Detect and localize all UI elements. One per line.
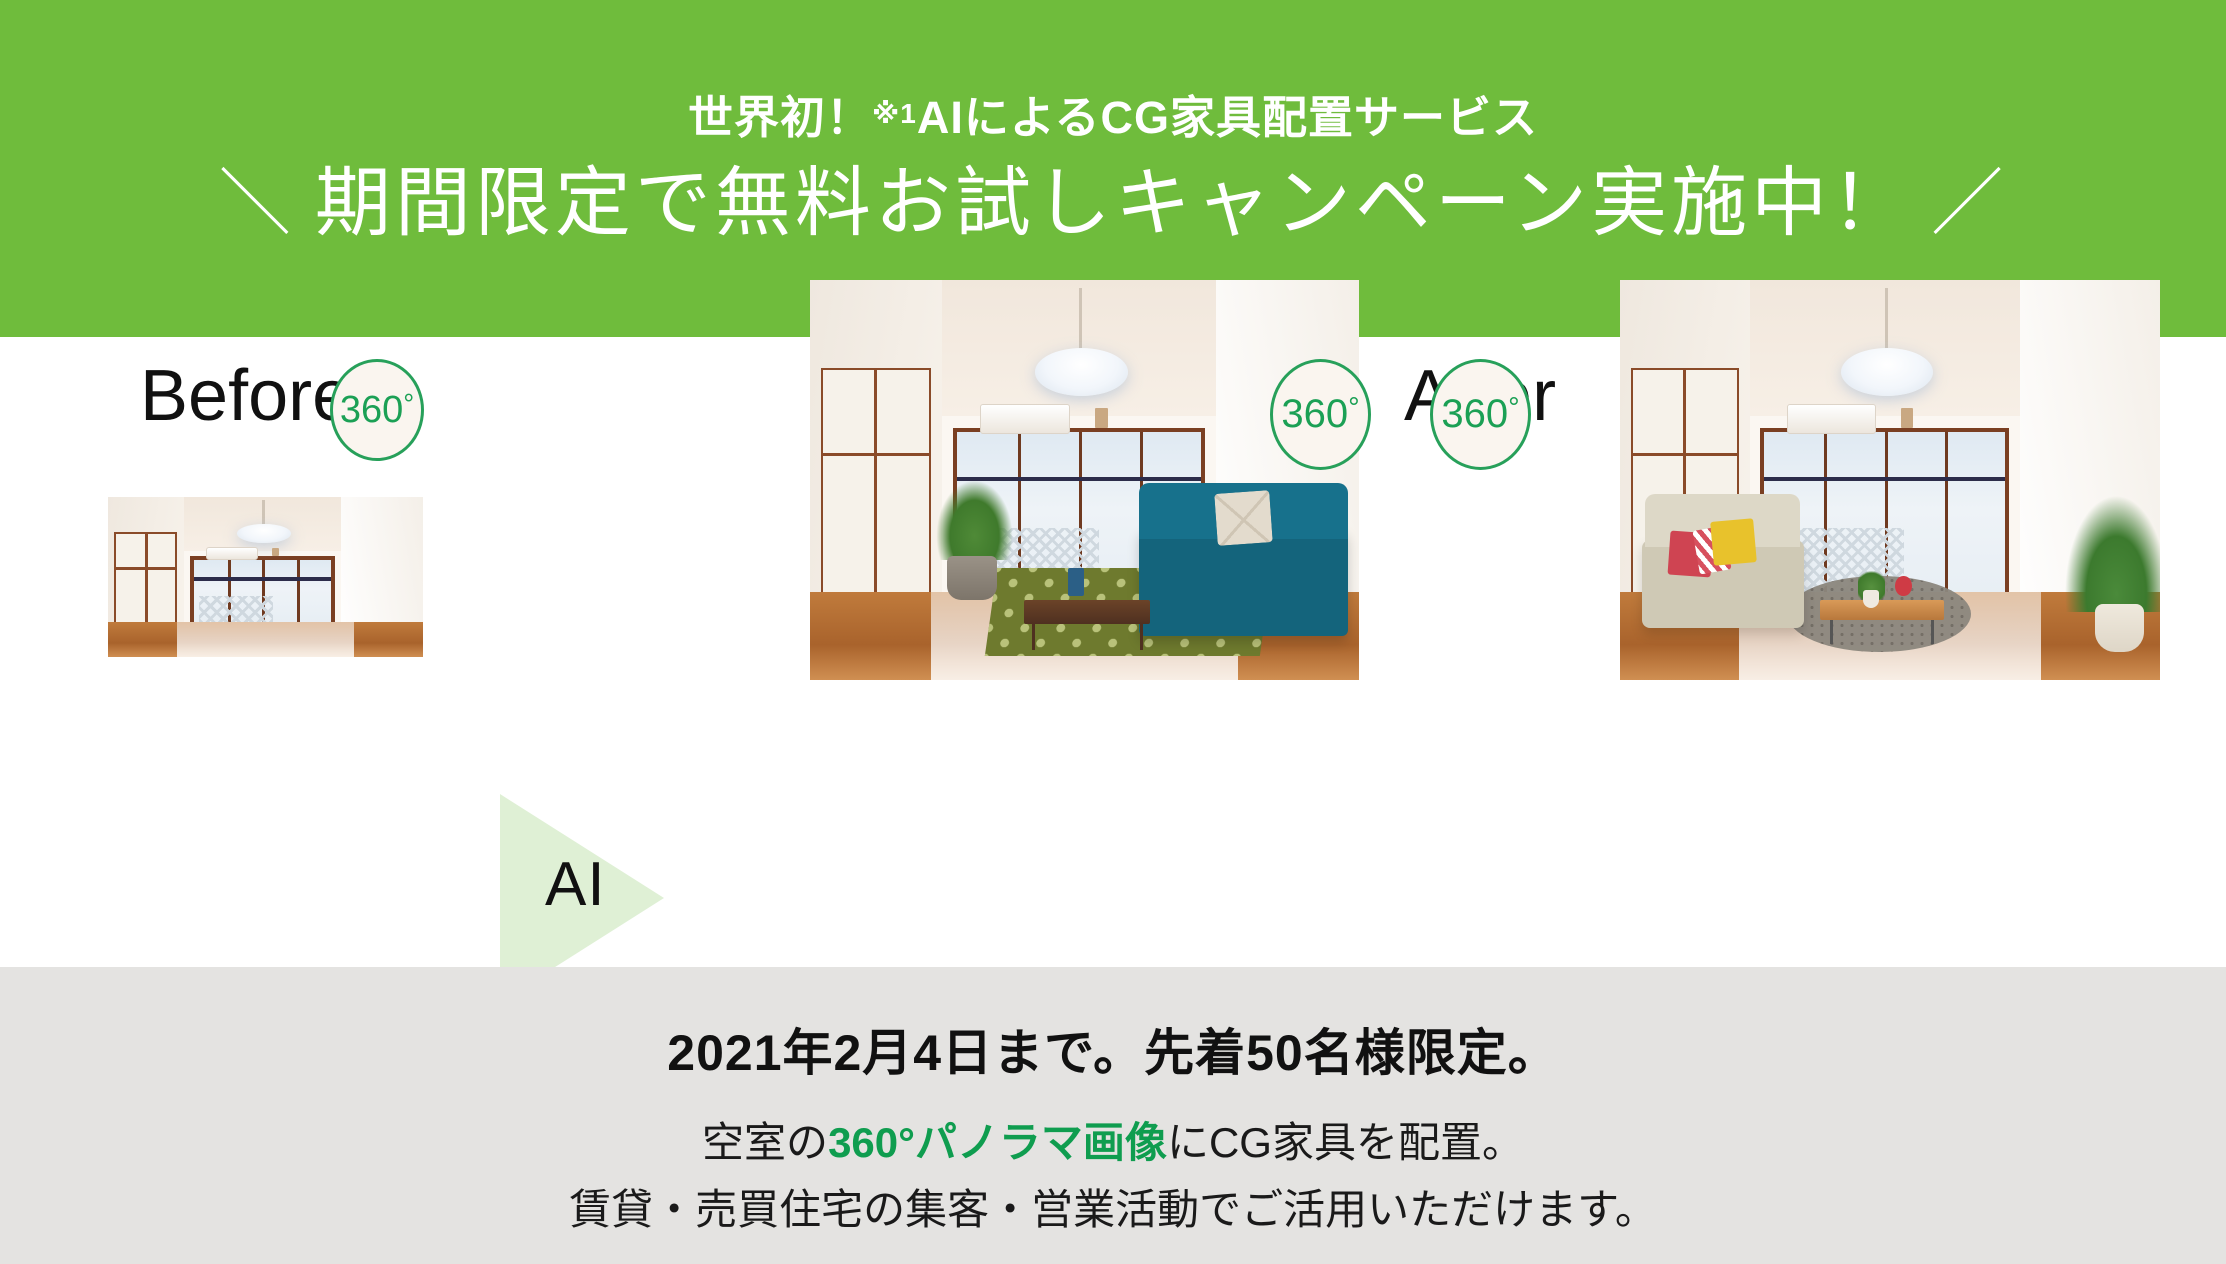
- potted-plant-pot: [947, 556, 996, 600]
- service-description-line-2: 賃貸・売買住宅の集客・営業活動でご活用いただけます。: [569, 1176, 1657, 1237]
- header-title: ＼ 期間限定で無料お試しキャンペーン実施中！ ／: [219, 166, 2007, 242]
- coffee-table-dark: [1024, 600, 1150, 624]
- badge-degree-symbol: °: [403, 388, 414, 420]
- shoji-sliding-door: [821, 368, 931, 616]
- pendant-lamp-cord: [1079, 288, 1082, 352]
- header-subtitle: 世界初！※1 AIによるCG家具配置サービス: [688, 95, 1538, 140]
- badge-360-after-2[interactable]: 360°: [1430, 359, 1531, 470]
- window-grill: [199, 596, 273, 622]
- palm-plant-leaves: [2063, 492, 2160, 612]
- window-mullion-vertical: [1945, 432, 1948, 604]
- before-after-comparison-section: Before After 360° AI: [0, 337, 2226, 967]
- header-title-text: 期間限定で無料お試しキャンペーン実施中！: [315, 166, 1911, 242]
- badge-360-value: 360: [1441, 392, 1508, 437]
- badge-degree-symbol: °: [1348, 392, 1360, 425]
- palm-plant-pot: [2095, 604, 2144, 652]
- potted-plant-leaves: [936, 480, 1013, 560]
- window-mullion-horizontal: [194, 577, 331, 581]
- campaign-details-footer: 2021年2月4日まで。先着50名様限定。 空室の360°パノラマ画像にCG家具…: [0, 967, 2226, 1264]
- campaign-deadline-text: 2021年2月4日まで。先着50名様限定。: [667, 1013, 1558, 1085]
- before-label: Before: [140, 355, 352, 437]
- rose-flower: [1895, 576, 1911, 596]
- slash-left-decoration: ＼: [219, 168, 295, 240]
- badge-360-value: 360: [340, 389, 403, 432]
- coffee-table-wood: [1820, 600, 1944, 620]
- badge-360-before[interactable]: 360°: [330, 359, 424, 461]
- desc-post: にCG家具を配置。: [1167, 1119, 1524, 1166]
- before-room-thumbnail[interactable]: [108, 497, 423, 657]
- window: [190, 556, 335, 628]
- shoji-sliding-door: [114, 532, 177, 631]
- service-description-line-1: 空室の360°パノラマ画像にCG家具を配置。: [702, 1109, 1524, 1170]
- badge-360-value: 360: [1281, 392, 1348, 437]
- pendant-lamp: [1841, 348, 1933, 396]
- air-conditioner: [1787, 404, 1875, 434]
- footnote-marker: ※1: [872, 100, 917, 128]
- vase-blue: [1068, 568, 1084, 596]
- pendant-lamp-cord: [262, 500, 265, 526]
- floor-light-reflection: [177, 622, 353, 657]
- room-scene-furnished-beige: [1620, 280, 2160, 680]
- pendant-lamp: [1035, 348, 1128, 396]
- badge-degree-symbol: °: [1508, 392, 1520, 425]
- window-mullion-horizontal: [1764, 477, 2004, 481]
- room-scene-furnished-teal: [810, 280, 1359, 680]
- desc-pre: 空室の: [702, 1119, 828, 1166]
- window-mullion-vertical: [297, 560, 300, 624]
- sofa-teal: [1139, 528, 1348, 636]
- badge-360-after-1[interactable]: 360°: [1270, 359, 1371, 470]
- after-room-beige-sofa[interactable]: [1620, 280, 2160, 680]
- header-subtitle-post: AIによるCG家具配置サービス: [917, 95, 1538, 140]
- air-conditioner: [980, 404, 1070, 434]
- pillow-beige: [1215, 490, 1273, 546]
- ai-arrow-label: AI: [545, 849, 606, 920]
- desc-highlight-360-panorama: 360°パノラマ画像: [828, 1119, 1167, 1166]
- wall-switch: [272, 548, 279, 556]
- pillow-yellow: [1710, 518, 1757, 566]
- after-room-teal-sofa[interactable]: [810, 280, 1359, 680]
- air-conditioner: [206, 547, 258, 560]
- slash-right-decoration: ／: [1931, 168, 2007, 240]
- wall-switch: [1095, 408, 1107, 428]
- pendant-lamp-cord: [1885, 288, 1888, 352]
- wall-switch: [1901, 408, 1913, 428]
- header-subtitle-pre: 世界初！: [688, 95, 872, 140]
- succulent-plant: [1858, 568, 1885, 600]
- room-scene-empty: [108, 497, 423, 657]
